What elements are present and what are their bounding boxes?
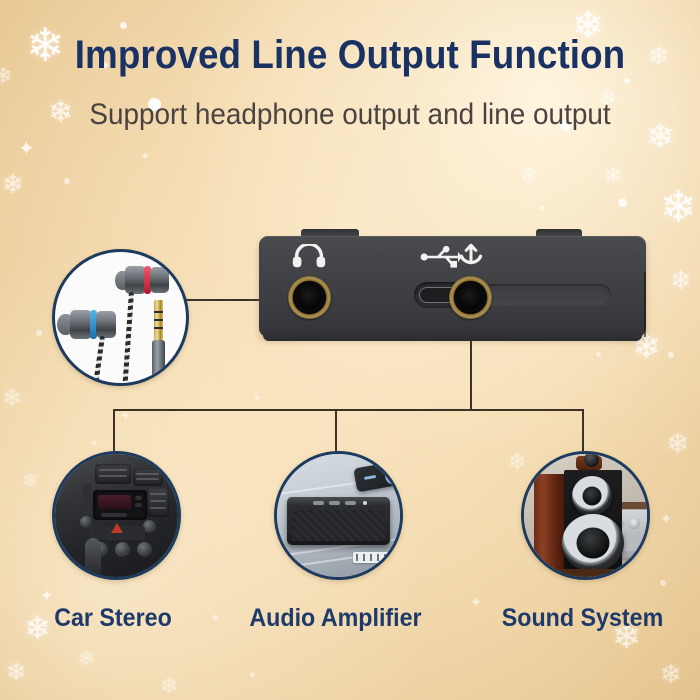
sparkle-icon: ✦ xyxy=(40,588,53,604)
vent-slat xyxy=(150,507,166,509)
device-seam xyxy=(644,272,646,337)
page-title: Improved Line Output Function xyxy=(28,33,672,78)
speaker-top-button[interactable] xyxy=(345,501,356,505)
connector-branch-right xyxy=(582,409,584,451)
snow-dot xyxy=(596,352,601,357)
bluetooth-speaker[interactable] xyxy=(287,497,390,545)
sound-system-label: Sound System xyxy=(496,604,668,633)
earphone-callout-circle[interactable] xyxy=(52,249,189,386)
vent-slat xyxy=(136,478,159,480)
snow-dot xyxy=(624,78,630,84)
earbud-barrel xyxy=(150,267,169,293)
speaker-tweeter xyxy=(572,476,612,516)
snowflake-icon: ❄ xyxy=(2,386,22,410)
air-vent-left xyxy=(95,464,131,484)
earphone-artwork xyxy=(55,252,186,383)
car-stereo-label: Car Stereo xyxy=(29,604,196,633)
speaker-base xyxy=(538,569,624,577)
sparkle-icon: ✦ xyxy=(18,138,35,158)
snow-dot xyxy=(618,198,627,207)
car-stereo-circle[interactable] xyxy=(52,451,181,580)
speaker-grille xyxy=(292,510,385,541)
connector-branch-center xyxy=(335,409,337,451)
plug-body xyxy=(152,340,165,378)
woofer-cone xyxy=(577,528,610,559)
earphone-cable xyxy=(94,336,105,382)
earbud-barrel xyxy=(70,310,92,339)
sound-system-artwork xyxy=(524,454,647,577)
snow-dot xyxy=(250,672,255,677)
line-out-jack-port[interactable] xyxy=(449,276,492,319)
snowflake-icon: ❄ xyxy=(160,676,178,698)
snowflake-icon: ❄ xyxy=(666,430,689,458)
audio-amplifier-label: Audio Amplifier xyxy=(249,604,423,633)
air-vent-right xyxy=(133,468,163,486)
poster-canvas: ❄ ❄ ❄ ❄ ❄ ❄ ❄ ❄ ❄ ❄ ❄ ❄ ❄ ❄ ❄ ❄ ❄ ❄ ❄ ❄ … xyxy=(0,0,700,700)
snowflake-icon: ❄ xyxy=(6,660,26,684)
snow-dot xyxy=(660,580,666,586)
vent-slat xyxy=(99,469,127,471)
connector-branch-left xyxy=(113,409,115,451)
snowflake-icon: ❄ xyxy=(660,662,682,688)
remote-buttons xyxy=(356,554,388,561)
car-stereo-artwork xyxy=(55,454,178,577)
vent-slat xyxy=(150,493,166,495)
snowflake-icon: ❄ xyxy=(604,166,622,188)
snow-dot xyxy=(120,22,127,29)
vent-slat xyxy=(99,475,127,477)
headphone-jack-port[interactable] xyxy=(288,276,331,319)
snow-dot xyxy=(64,178,70,184)
device-bottom-edge xyxy=(263,335,642,341)
sparkle-icon: ✦ xyxy=(470,596,482,610)
sparkle-icon: ✦ xyxy=(660,512,673,527)
page-subtitle: Support headphone output and line output xyxy=(25,98,676,132)
sparkle-icon: ✦ xyxy=(140,150,150,162)
audio-amplifier-artwork xyxy=(277,454,400,577)
climate-knob-3[interactable] xyxy=(137,542,152,557)
radio-button[interactable] xyxy=(101,513,127,517)
line-out-jack-hole xyxy=(459,286,482,309)
speaker-woofer xyxy=(562,514,624,572)
tweeter-dome xyxy=(584,452,599,467)
sound-system-circle[interactable] xyxy=(521,451,650,580)
snow-dot xyxy=(36,330,42,336)
snowflake-icon: ❄ xyxy=(670,268,692,294)
snowflake-icon: ❄ xyxy=(78,648,95,668)
tweeter-cone xyxy=(583,487,602,506)
snow-dot xyxy=(92,440,97,445)
sparkle-icon: ✦ xyxy=(252,392,262,404)
connector-branch-bar xyxy=(113,409,583,411)
radio-preset-column[interactable] xyxy=(83,484,91,514)
speaker-top-button[interactable] xyxy=(313,501,324,505)
earbud-barrel xyxy=(125,266,146,294)
audio-player-device[interactable] xyxy=(259,236,646,337)
connector-earphone-to-headphone-jack xyxy=(186,299,260,301)
sparkle-icon: ✦ xyxy=(120,410,131,423)
sparkle-icon: ✦ xyxy=(210,612,220,624)
hazard-light-button[interactable] xyxy=(111,523,123,533)
gear-shifter xyxy=(85,538,101,578)
snowflake-icon: ❄ xyxy=(520,166,538,188)
car-radio-head-unit[interactable] xyxy=(93,490,147,520)
climate-knob-2[interactable] xyxy=(115,542,130,557)
audio-amplifier-circle[interactable] xyxy=(274,451,403,580)
snowflake-icon: ❄ xyxy=(0,66,12,88)
headphone-icon xyxy=(292,244,326,273)
snowflake-icon: ❄ xyxy=(2,172,24,198)
headphone-jack-hole xyxy=(298,286,321,309)
speaker-top-button[interactable] xyxy=(329,501,340,505)
radio-display xyxy=(98,495,131,509)
vent-slat xyxy=(136,473,159,475)
radio-button[interactable] xyxy=(135,503,142,507)
radio-button[interactable] xyxy=(135,496,142,500)
line-out-icon xyxy=(457,243,485,274)
snowflake-icon: ❄ xyxy=(660,186,697,230)
speaker-cabinet-wood xyxy=(534,474,568,572)
snow-dot xyxy=(540,206,545,211)
vent-slat xyxy=(150,500,166,502)
speaker-led xyxy=(363,501,367,505)
earbud-barrel xyxy=(96,311,116,338)
earphone-cable xyxy=(123,292,134,384)
snowflake-icon: ❄ xyxy=(22,470,39,490)
amplifier-knob[interactable] xyxy=(629,518,640,529)
air-vent-side xyxy=(147,487,169,517)
snow-dot xyxy=(668,352,674,358)
